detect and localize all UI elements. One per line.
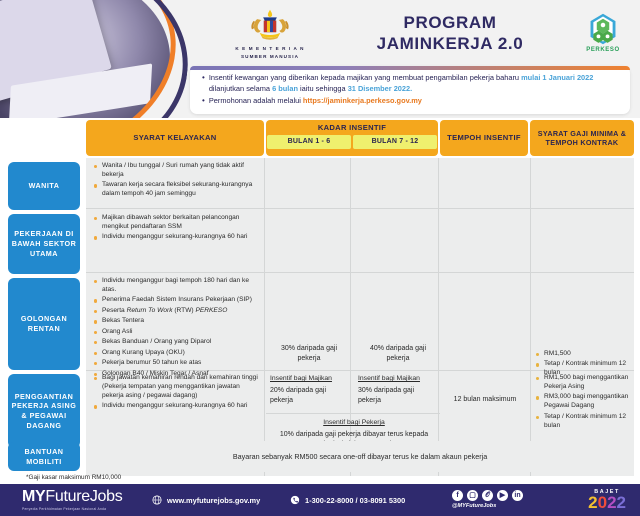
column-header-bulan-7-12: BULAN 7 - 12 xyxy=(353,135,437,149)
rate-penggantian-majikan-7-12: Insentif bagi Majikan 30% daripada gaji … xyxy=(358,374,438,406)
rate-bulan-1-6-main: 30% daripada gaji pekerja xyxy=(270,344,348,364)
list-item: Individu menganggur sekurang-kurangnya 6… xyxy=(94,233,260,242)
sidebar-item-golongan-rentan[interactable]: GOLONGAN RENTAN xyxy=(8,278,80,370)
rate-value: 30% daripada gaji pekerja xyxy=(358,387,414,404)
list-item: Wanita / Ibu tunggal / Suri rumah yang t… xyxy=(94,162,260,180)
brand-rest: FutureJobs xyxy=(45,488,122,505)
hero-ring-purple xyxy=(0,0,198,118)
bullet-icon: • xyxy=(202,96,205,106)
bajet-year: 2022 xyxy=(588,494,626,511)
column-header-syarat-kelayakan: SYARAT KELAYAKAN xyxy=(86,120,264,156)
sidebar-item-wanita[interactable]: WANITA xyxy=(8,162,80,210)
youtube-icon[interactable]: ▶ xyxy=(497,490,508,501)
perkeso-label: PERKESO xyxy=(576,47,630,53)
grid-divider xyxy=(264,158,265,476)
footer-website-text: www.myfuturejobs.gov.my xyxy=(167,496,260,505)
notes-card: • Insentif kewangan yang diberikan kepad… xyxy=(190,66,630,114)
bullet-icon: • xyxy=(202,73,205,83)
grid-divider xyxy=(86,272,634,273)
sub-heading-insentif-pekerja: Insentif bagi Pekerja xyxy=(268,418,440,428)
list-item: Orang Asli xyxy=(94,328,260,337)
grid-divider xyxy=(266,413,440,414)
bajet-digit-3: 2 xyxy=(607,493,616,512)
grid-divider xyxy=(530,158,531,476)
eligibility-penggantian: Bagi jawatan kemahiran rendah dan kemahi… xyxy=(94,374,260,413)
list-item: RM1,500 xyxy=(536,350,632,359)
eligibility-golongan-rentan: Individu menganggur bagi tempoh 180 hari… xyxy=(94,277,260,380)
list-item: Bagi jawatan kemahiran rendah dan kemahi… xyxy=(94,374,260,401)
sub-heading-insentif-majikan: Insentif bagi Majikan xyxy=(270,374,348,384)
bajet-digit-2: 0 xyxy=(598,493,607,512)
brand-my: MY xyxy=(22,488,45,505)
list-item: Individu menganggur sekurang-kurangnya 6… xyxy=(94,402,260,411)
social-handle: @MYFutureJobs xyxy=(452,503,523,509)
perkeso-hexagon-icon xyxy=(586,12,620,46)
rate-penggantian-majikan-1-6: Insentif bagi Majikan 20% daripada gaji … xyxy=(270,374,348,406)
list-item: Peserta Return To Work (RTW) PERKESO xyxy=(94,307,260,316)
list-item: Bekas Banduan / Orang yang Diparol xyxy=(94,338,260,347)
gaji-penggantian: RM1,500 bagi menggantikan Pekerja Asing … xyxy=(536,374,632,432)
footer-website[interactable]: www.myfuturejobs.gov.my xyxy=(152,495,260,505)
incentive-table: SYARAT KELAYAKAN KADAR INSENTIF BULAN 1 … xyxy=(0,118,640,478)
brand-tagline: Penyedia Perkhidmatan Pekerjaan Nasional… xyxy=(22,507,122,511)
note-text: Permohonan adalah melalui https://jamink… xyxy=(209,96,422,107)
column-header-tempoh-insentif: TEMPOH INSENTIF xyxy=(440,120,528,156)
list-item: Bekas Tentera xyxy=(94,317,260,326)
instagram-icon[interactable]: ▢ xyxy=(467,490,478,501)
note-item: • Permohonan adalah melalui https://jami… xyxy=(202,96,620,107)
sub-heading-insentif-majikan: Insentif bagi Majikan xyxy=(358,374,438,384)
title-line-2: JAMINKERJA 2.0 xyxy=(330,33,570,54)
title-line-1: PROGRAM xyxy=(330,12,570,33)
grid-divider xyxy=(86,208,634,209)
brand-name: MYFutureJobs xyxy=(22,489,122,505)
page-title: PROGRAM JAMINKERJA 2.0 xyxy=(330,12,570,55)
perkeso-logo: PERKESO xyxy=(576,12,630,53)
page-header: K E M E N T E R I A N SUMBER MANUSIA PRO… xyxy=(0,0,640,118)
jaminkerja-link[interactable]: https://jaminkerja.perkeso.gov.my xyxy=(303,96,422,105)
bajet-digit-4: 2 xyxy=(617,493,626,512)
list-item: Individu menganggur bagi tempoh 180 hari… xyxy=(94,277,260,295)
malaysia-coat-of-arms-icon xyxy=(244,8,296,44)
eligibility-sektor-utama: Majikan dibawah sektor berkaitan pelanco… xyxy=(94,214,260,244)
list-item: Penerima Faedah Sistem Insurans Pekerjaa… xyxy=(94,296,260,305)
column-header-syarat-gaji: SYARAT GAJI MINIMA & TEMPOH KONTRAK xyxy=(530,120,634,156)
list-item: Tetap / Kontrak minimum 12 bulan xyxy=(536,413,632,431)
kadar-insentif-title: KADAR INSENTIF xyxy=(318,123,386,132)
table-footnote: *Gaji kasar maksimum RM10,000 xyxy=(26,474,121,481)
myfuturejobs-logo: MYFutureJobs Penyedia Perkhidmatan Peker… xyxy=(22,489,122,511)
column-header-bulan-1-6: BULAN 1 - 6 xyxy=(267,135,351,149)
list-item: Pekerja berumur 50 tahun ke atas xyxy=(94,359,260,368)
social-links: f ▢ 𝒪 ▶ in @MYFutureJobs xyxy=(452,490,523,509)
note-item: • Insentif kewangan yang diberikan kepad… xyxy=(202,73,620,94)
page-footer: MYFutureJobs Penyedia Perkhidmatan Peker… xyxy=(0,484,640,516)
list-item: Tawaran kerja secara fleksibel sekurang-… xyxy=(94,181,260,199)
ministry-logo: K E M E N T E R I A N SUMBER MANUSIA xyxy=(222,8,318,60)
list-item: RM3,000 bagi menggantikan Pegawai Dagang xyxy=(536,393,632,411)
rate-bulan-7-12-main: 40% daripada gaji pekerja xyxy=(358,344,438,364)
twitter-icon[interactable]: 𝒪 xyxy=(482,490,493,501)
table-column-headers: SYARAT KELAYAKAN KADAR INSENTIF BULAN 1 … xyxy=(0,120,640,156)
bantuan-mobiliti-row: BANTUAN MOBILITI Bayaran sebanyak RM500 … xyxy=(0,441,640,472)
eligibility-wanita: Wanita / Ibu tunggal / Suri rumah yang t… xyxy=(94,162,260,201)
column-header-kadar-insentif: KADAR INSENTIF BULAN 1 - 6 BULAN 7 - 12 xyxy=(266,120,438,156)
sidebar-item-sektor-utama[interactable]: PEKERJAAN DI BAWAH SEKTOR UTAMA xyxy=(8,214,80,274)
tempoh-insentif-value: 12 bulan maksimum xyxy=(442,396,528,403)
facebook-icon[interactable]: f xyxy=(452,490,463,501)
ministry-logo-line1: K E M E N T E R I A N xyxy=(222,45,318,52)
list-item: Majikan dibawah sektor berkaitan pelanco… xyxy=(94,214,260,232)
rate-value: 20% daripada gaji pekerja xyxy=(270,387,326,404)
list-item: Orang Kurang Upaya (OKU) xyxy=(94,349,260,358)
sidebar-item-penggantian[interactable]: PENGGANTIAN PEKERJA ASING & PEGAWAI DAGA… xyxy=(8,374,80,448)
linkedin-icon[interactable]: in xyxy=(512,490,523,501)
footer-phone[interactable]: 1-300-22-8000 / 03-8091 5300 xyxy=(290,495,405,505)
bantuan-mobiliti-value: Bayaran sebanyak RM500 secara one-off di… xyxy=(86,441,634,472)
note-text: Insentif kewangan yang diberikan kepada … xyxy=(209,73,620,94)
ministry-logo-line2: SUMBER MANUSIA xyxy=(222,53,318,60)
bajet-digit-1: 2 xyxy=(588,493,597,512)
list-item: RM1,500 bagi menggantikan Pekerja Asing xyxy=(536,374,632,392)
sidebar-item-bantuan-mobiliti[interactable]: BANTUAN MOBILITI xyxy=(8,442,80,471)
bajet-2022-logo: BAJET 2022 xyxy=(588,489,626,511)
globe-icon xyxy=(152,495,162,505)
phone-icon xyxy=(290,495,300,505)
footer-phone-text: 1-300-22-8000 / 03-8091 5300 xyxy=(305,496,405,505)
